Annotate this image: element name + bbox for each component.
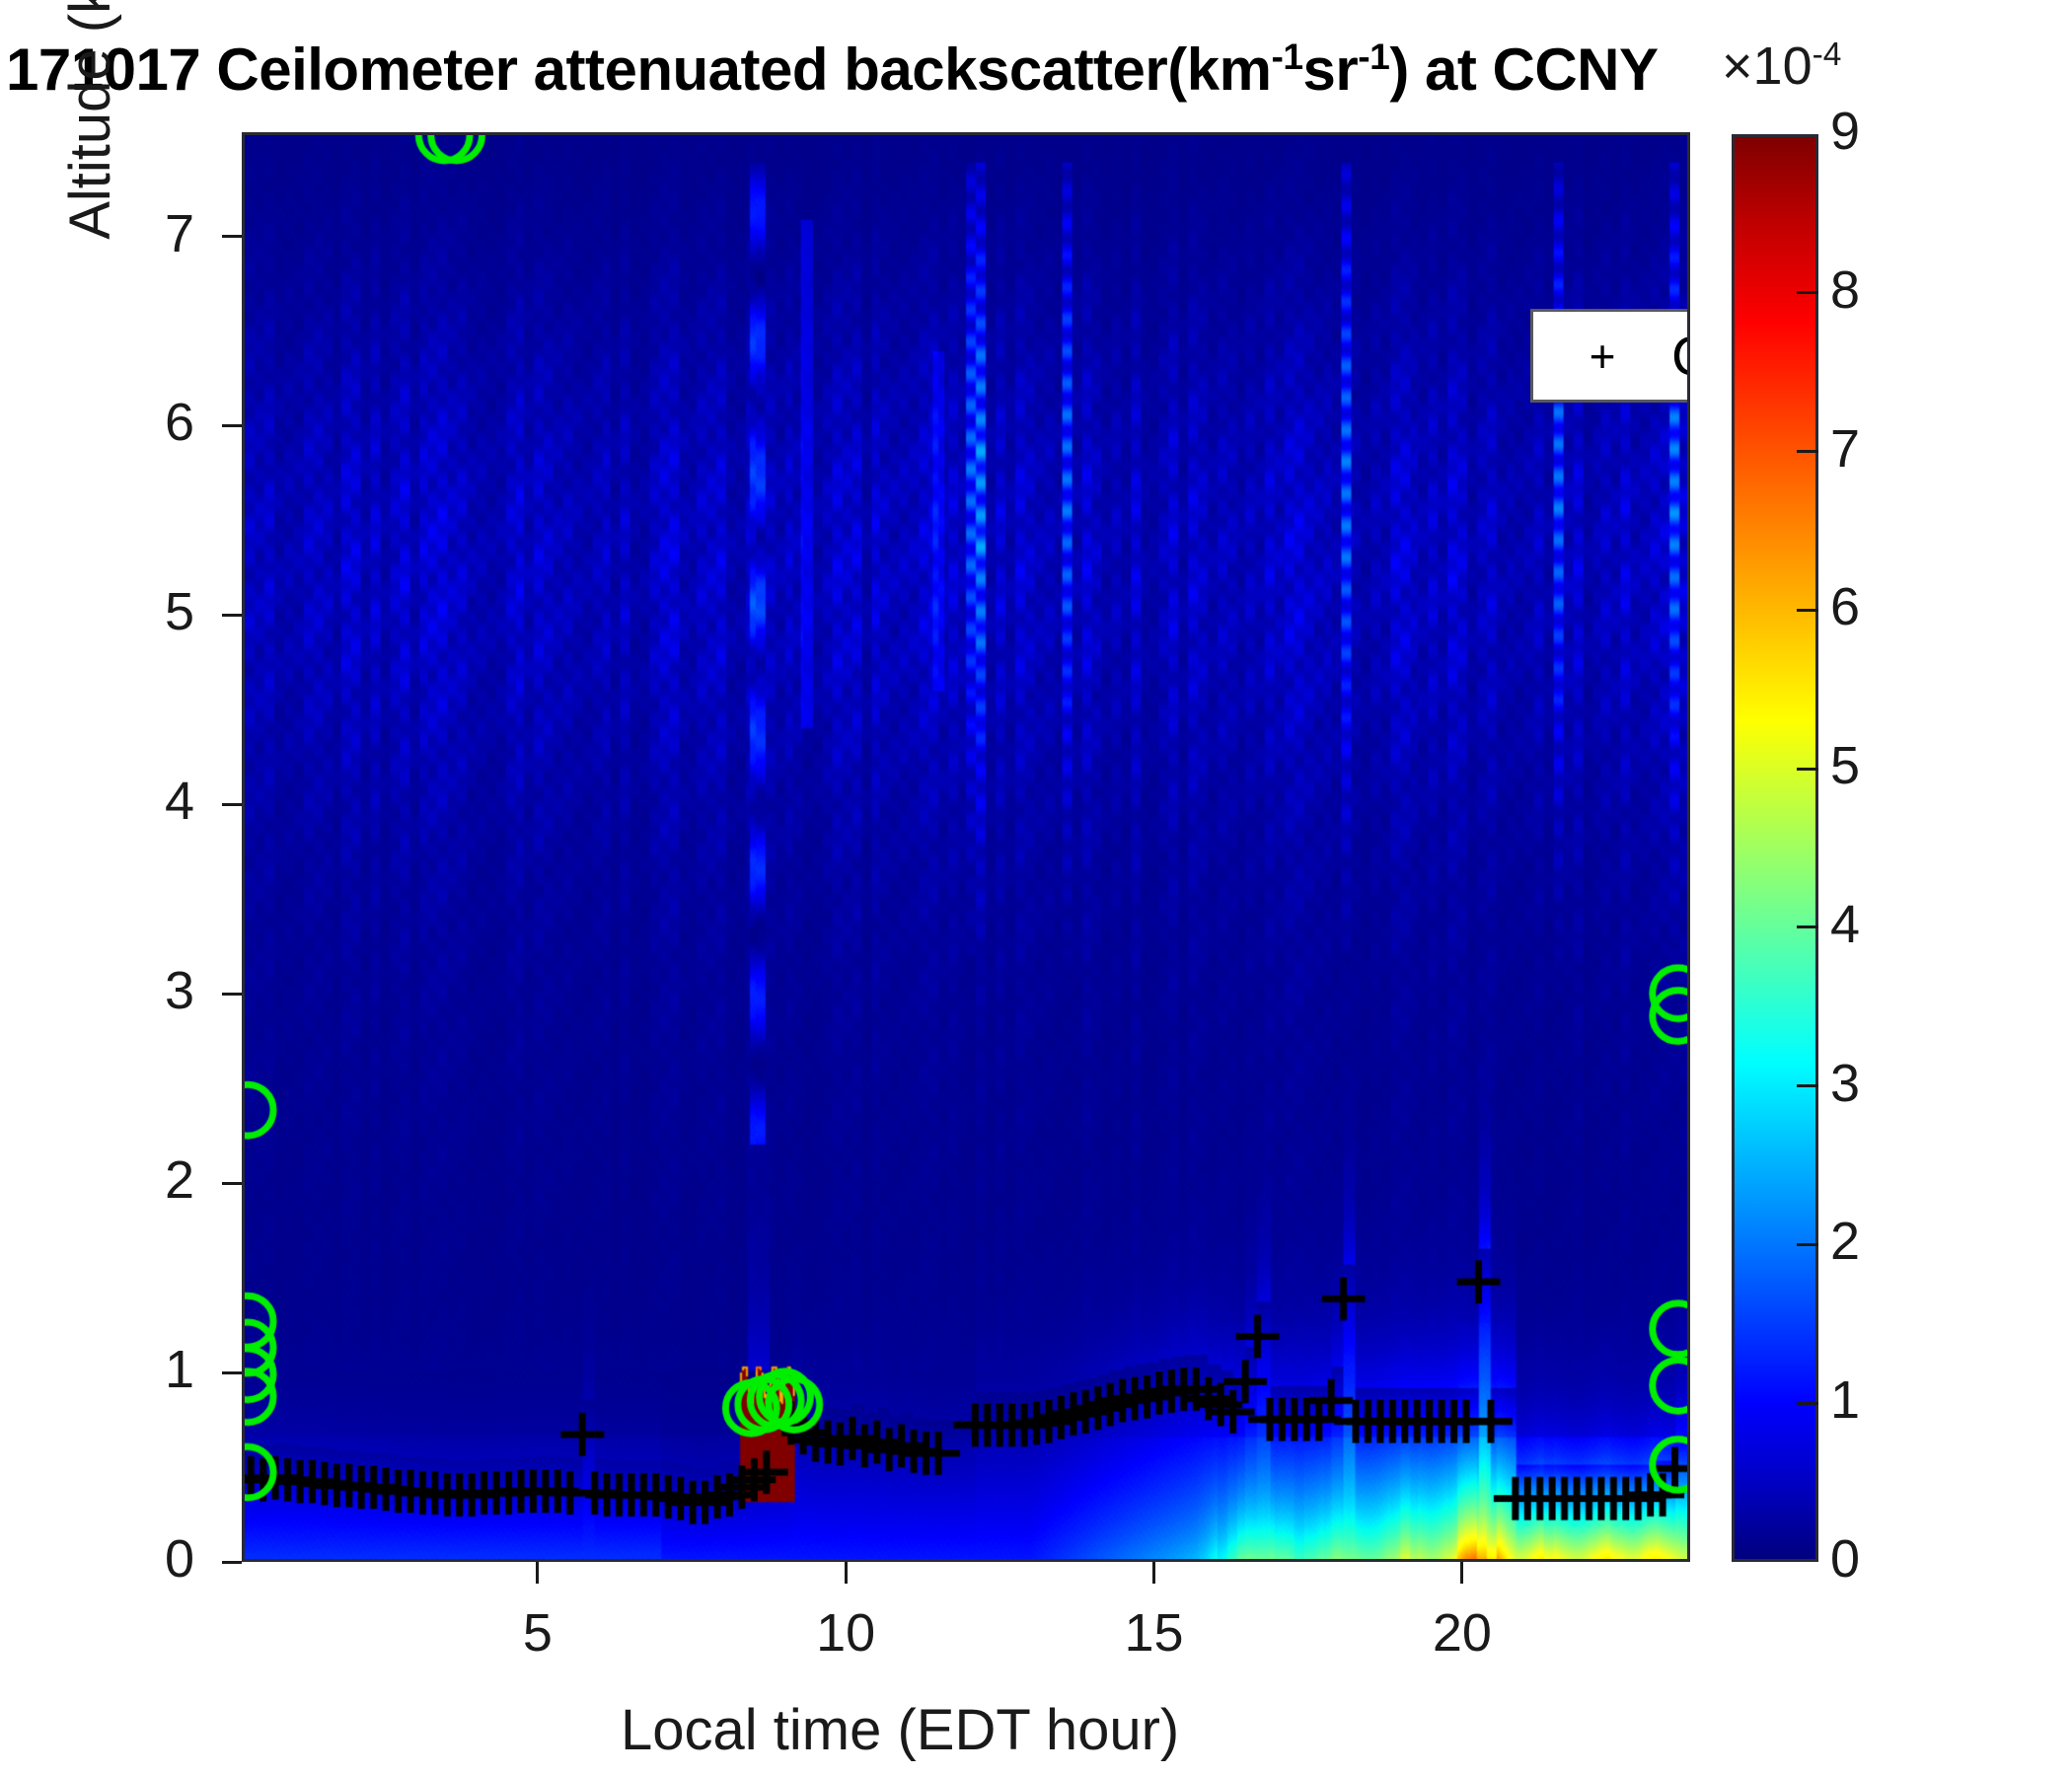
y-tick-label: 3 — [76, 964, 194, 1017]
legend: + Cloud-z — [1530, 309, 1690, 403]
y-tick-label: 0 — [76, 1532, 194, 1586]
y-tick — [222, 424, 242, 427]
legend-label: Cloud-z — [1671, 324, 1690, 388]
title-main: 171017 Ceilometer attenuated backscatter… — [6, 37, 1271, 103]
y-tick-label: 1 — [76, 1343, 194, 1396]
colorbar-tick-label: 4 — [1830, 898, 1939, 951]
y-tick — [222, 1371, 242, 1374]
legend-plus-icon: + — [1533, 330, 1671, 383]
colorbar-tick — [1797, 609, 1818, 612]
y-axis-label: Altitude (km) — [57, 0, 123, 424]
y-tick — [222, 1182, 242, 1185]
colorbar-tick-label: 1 — [1830, 1373, 1939, 1427]
colorbar-exponent-label: ×10-4 — [1722, 36, 1841, 97]
colorbar-exponent-prefix: ×10 — [1722, 37, 1813, 96]
x-tick-label: 20 — [1383, 1606, 1541, 1660]
y-tick-label: 2 — [76, 1153, 194, 1207]
colorbar-tick-label: 3 — [1830, 1057, 1939, 1110]
colorbar-tick-label: 2 — [1830, 1215, 1939, 1268]
x-tick-label: 5 — [459, 1606, 617, 1660]
colorbar-tick-label: 7 — [1830, 422, 1939, 476]
colorbar-tick-label: 5 — [1830, 739, 1939, 792]
title-superscript-2: -1 — [1358, 36, 1389, 77]
colorbar-tick — [1797, 450, 1818, 453]
title-superscript-1: -1 — [1271, 36, 1302, 77]
y-tick — [222, 1561, 242, 1564]
colorbar-tick-label: 0 — [1830, 1532, 1939, 1586]
y-tick-label: 4 — [76, 775, 194, 828]
title-tail: ) at CCNY — [1389, 37, 1658, 103]
colorbar-tick-label: 9 — [1830, 105, 1939, 158]
colorbar-tick-label: 8 — [1830, 263, 1939, 317]
x-tick-label: 15 — [1075, 1606, 1233, 1660]
y-tick — [222, 235, 242, 238]
y-tick — [222, 993, 242, 996]
x-tick — [536, 1562, 539, 1584]
y-tick-label: 5 — [76, 585, 194, 638]
colorbar-tick — [1797, 1402, 1818, 1405]
x-tick — [1152, 1562, 1155, 1584]
colorbar-exponent-value: -4 — [1813, 37, 1842, 73]
x-axis-label: Local time (EDT hour) — [621, 1697, 1179, 1763]
plot-area: + Cloud-z — [242, 132, 1690, 1562]
x-tick-label: 10 — [767, 1606, 925, 1660]
colorbar-tick — [1797, 291, 1818, 294]
colorbar-tick-label: 6 — [1830, 580, 1939, 633]
x-tick — [1460, 1562, 1463, 1584]
colorbar-tick — [1797, 1084, 1818, 1087]
x-tick — [845, 1562, 848, 1584]
cloud-marker-overlay — [245, 135, 1687, 1559]
page-title: 171017 Ceilometer attenuated backscatter… — [6, 36, 1659, 104]
title-mid: sr — [1303, 37, 1359, 103]
y-tick — [222, 803, 242, 806]
colorbar-tick — [1797, 1243, 1818, 1246]
colorbar-tick — [1797, 925, 1818, 928]
colorbar — [1732, 134, 1818, 1562]
y-tick — [222, 614, 242, 617]
colorbar-tick — [1797, 768, 1818, 771]
